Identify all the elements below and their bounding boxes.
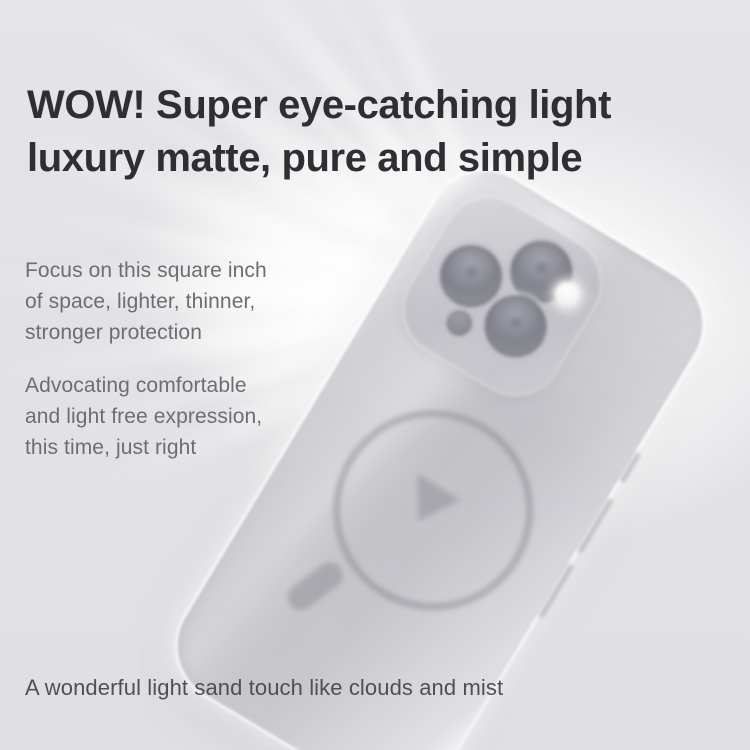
- body-line: of space, lighter, thinner,: [25, 287, 325, 318]
- headline-line: WOW! Super eye-catching light: [27, 79, 727, 132]
- footer-caption: A wonderful light sand touch like clouds…: [25, 674, 503, 703]
- product-banner: WOW! Super eye-catching light luxury mat…: [0, 0, 750, 750]
- body-line: and light free expression,: [25, 402, 325, 433]
- body-line: Advocating comfortable: [25, 371, 325, 402]
- body-line: stronger protection: [25, 318, 325, 349]
- headline-line: luxury matte, pure and simple: [27, 132, 727, 185]
- body-line: Focus on this square inch: [25, 256, 325, 287]
- body-paragraph-1: Focus on this square inch of space, ligh…: [25, 256, 325, 349]
- body-line: this time, just right: [25, 433, 325, 464]
- body-paragraph-2: Advocating comfortable and light free ex…: [25, 371, 325, 464]
- page-title: WOW! Super eye-catching light luxury mat…: [27, 79, 727, 185]
